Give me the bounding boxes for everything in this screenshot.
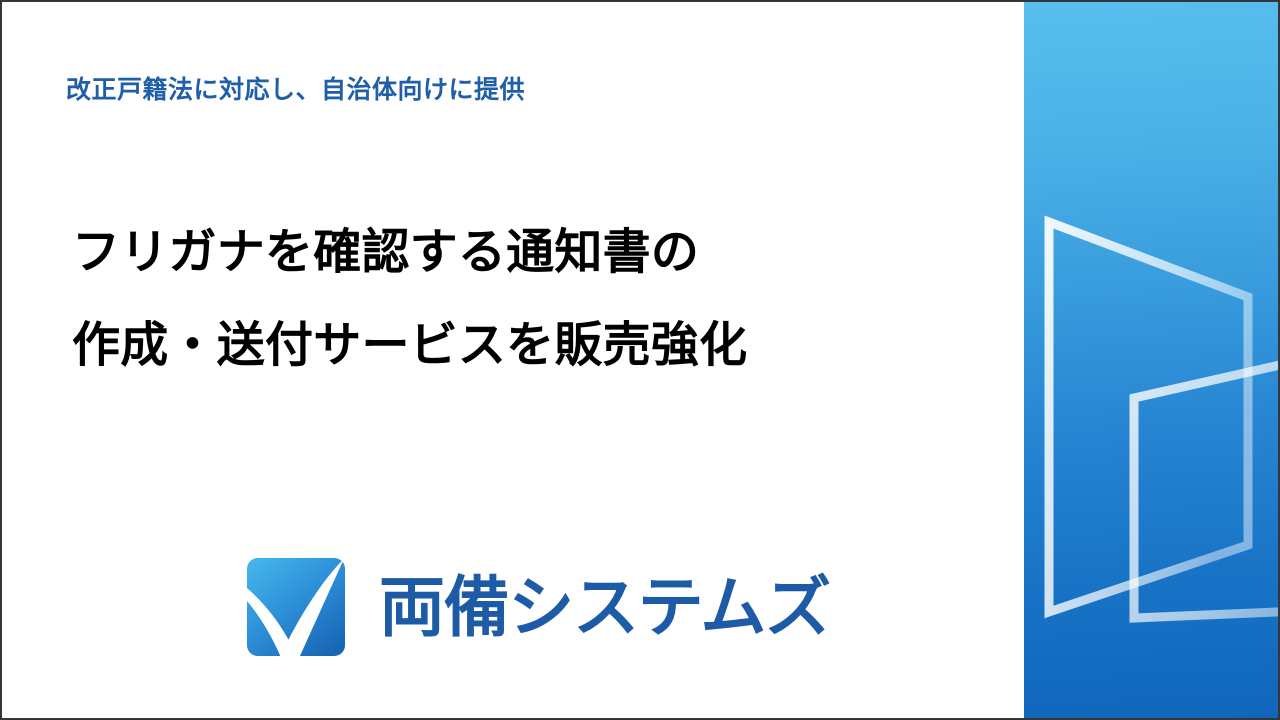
headline-line-1: フリガナを確認する通知書の <box>72 206 747 299</box>
slide-headline: フリガナを確認する通知書の 作成・送付サービスを販売強化 <box>72 206 747 392</box>
ryobi-logo-mark-icon <box>247 558 345 656</box>
panel-geometric-artwork <box>1024 0 1280 720</box>
right-decorative-panel <box>1024 0 1280 720</box>
quad-outline-back <box>1049 222 1248 612</box>
slide-canvas: 改正戸籍法に対応し、自治体向けに提供 フリガナを確認する通知書の 作成・送付サー… <box>0 0 1280 720</box>
logo-wordmark: 両備システムズ <box>379 568 830 646</box>
company-logo: 両備システムズ <box>247 558 830 656</box>
logo-wordmark-text: 両備システムズ <box>379 568 830 646</box>
headline-line-2: 作成・送付サービスを販売強化 <box>72 299 747 392</box>
slide-eyebrow-text: 改正戸籍法に対応し、自治体向けに提供 <box>66 70 525 106</box>
